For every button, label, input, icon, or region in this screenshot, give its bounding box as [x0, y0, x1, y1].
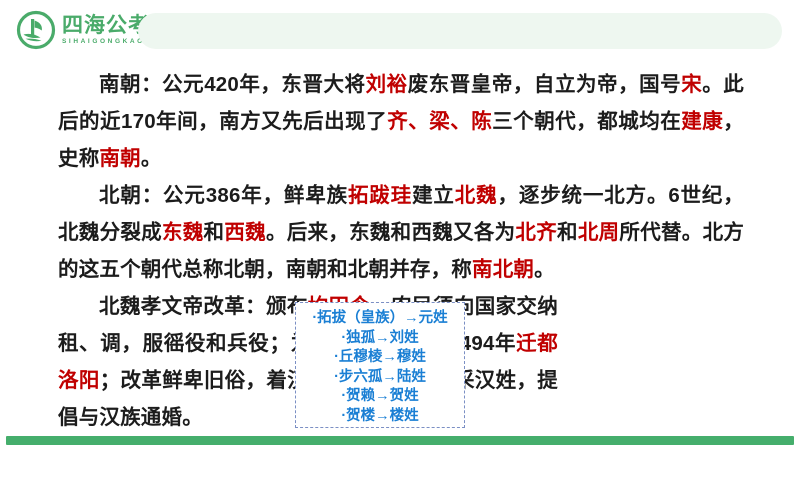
text-run-1-0: 北朝：公元386年，鲜卑族 [99, 184, 348, 207]
paragraph-northern-dynasties: 北朝：公元386年，鲜卑族拓跋珪建立北魏，逐步统一北方。6世纪，北魏分裂成东魏和… [58, 177, 744, 288]
surname-row: ·步六孤→陆姓 [296, 368, 464, 388]
highlight-term-0-1: 刘裕 [366, 73, 408, 96]
text-run-1-6: 和 [204, 221, 225, 244]
panel-text-wrap-spacer [558, 360, 744, 488]
text-run-0-10: 。 [141, 147, 162, 170]
text-run-1-14: 。 [534, 258, 555, 281]
header-banner [138, 13, 782, 49]
brand-wordmark: 四海公考 SIHAIGONGKAO [62, 15, 150, 46]
surname-row: ·拓拔（皇族）→元姓 [296, 309, 464, 329]
highlight-term-0-5: 齐、梁、陈 [387, 110, 492, 133]
highlight-term-1-11: 北周 [578, 221, 620, 244]
text-run-0-0: 南朝：公元420年，东晋大将 [99, 73, 366, 96]
header-bar: 四海公考 SIHAIGONGKAO [0, 0, 800, 62]
brand-subtitle: SIHAIGONGKAO [62, 39, 150, 46]
text-run-1-10: 和 [557, 221, 578, 244]
text-run-1-8: 。后来，东魏和西魏又各为 [266, 221, 515, 244]
highlight-term-0-7: 建康 [681, 110, 723, 133]
sail-leaf-emblem-icon [16, 10, 56, 50]
text-run-0-6: 三个朝代，都城均在 [492, 110, 681, 133]
surname-row-list: ·拓拔（皇族）→元姓·独孤→刘姓·丘穆棱→穆姓·步六孤→陆姓·贺赖→贺姓·贺楼→… [296, 309, 464, 426]
brand-logo: 四海公考 SIHAIGONGKAO [16, 10, 150, 50]
paragraph-southern-dynasties: 南朝：公元420年，东晋大将刘裕废东晋皇帝，自立为帝，国号宋。此后的近170年间… [58, 66, 744, 177]
highlight-term-1-5: 东魏 [162, 221, 204, 244]
text-run-2-0: 北魏孝文帝改革：颁布 [99, 295, 308, 318]
footer-accent-bar [6, 436, 794, 445]
highlight-term-0-9: 南朝 [99, 147, 140, 170]
highlight-term-1-13: 南北朝 [472, 258, 534, 281]
highlight-term-1-7: 西魏 [224, 221, 266, 244]
text-run-1-2: 建立 [412, 184, 455, 207]
surname-row: ·丘穆棱→穆姓 [296, 348, 464, 368]
highlight-term-0-3: 宋 [681, 73, 702, 96]
highlight-term-1-1: 拓跋珪 [348, 184, 412, 207]
surname-row: ·独孤→刘姓 [296, 329, 464, 349]
surname-row: ·贺楼→楼姓 [296, 407, 464, 427]
surname-conversion-panel: ·拓拔（皇族）→元姓·独孤→刘姓·丘穆棱→穆姓·步六孤→陆姓·贺赖→贺姓·贺楼→… [295, 302, 465, 428]
highlight-term-1-3: 北魏 [455, 184, 498, 207]
brand-title: 四海公考 [62, 15, 150, 36]
surname-row: ·贺赖→贺姓 [296, 387, 464, 407]
highlight-term-1-9: 北齐 [515, 221, 557, 244]
text-run-0-2: 废东晋皇帝，自立为帝，国号 [408, 73, 682, 96]
